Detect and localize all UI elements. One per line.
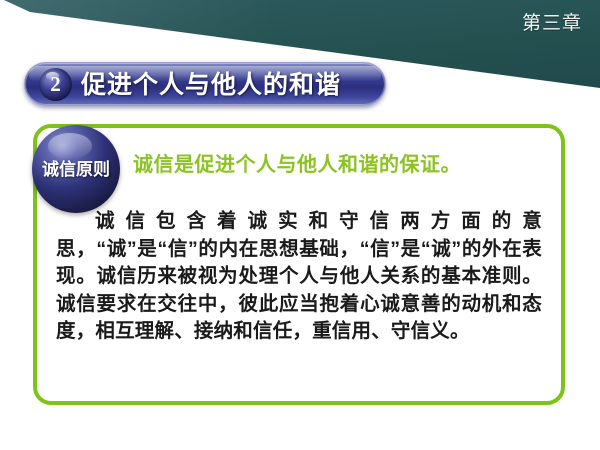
section-title-text: 促进个人与他人的和谐 (81, 63, 341, 107)
section-number-badge: 2 (39, 68, 72, 101)
section-title-bar: 2 促进个人与他人的和谐 (24, 62, 386, 106)
chapter-label: 第三章 (522, 14, 582, 35)
principle-sphere-badge: 诚信原则 (32, 125, 120, 213)
slide-canvas: 第三章 2 促进个人与他人的和谐 诚信原则 诚信是促进个人与他人和谐的保证。 诚… (0, 0, 600, 450)
lead-statement-text: 诚信是促进个人与他人和谐的保证。 (133, 148, 461, 177)
body-paragraph-text: 诚信包含着诚实和守信两方面的意思，“诚”是“信”的内在思想基础，“信”是“诚”的… (56, 208, 542, 346)
principle-badge-label: 诚信原则 (32, 155, 120, 180)
